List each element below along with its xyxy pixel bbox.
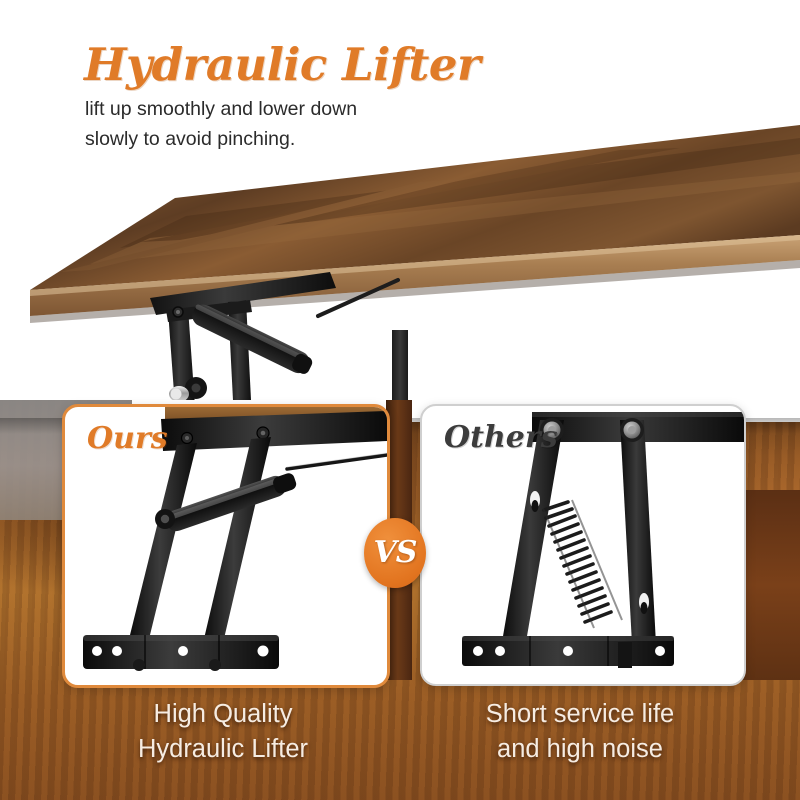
caption-others: Short service life and high noise [415, 697, 745, 767]
panel-label-ours: Ours [87, 421, 168, 456]
table-leg-upper-sliver [392, 330, 408, 410]
product-infographic: Hydraulic Lifter lift up smoothly and lo… [0, 0, 800, 800]
page-title: Hydraulic Lifter [84, 38, 480, 91]
vs-badge: VS [364, 518, 426, 588]
caption-ours: High Quality Hydraulic Lifter [58, 697, 388, 767]
comparison-panel-others: Others [420, 404, 746, 686]
panel-label-others: Others [444, 420, 558, 455]
vs-badge-label: VS [374, 538, 417, 568]
comparison-panel-ours: Ours [62, 404, 390, 688]
